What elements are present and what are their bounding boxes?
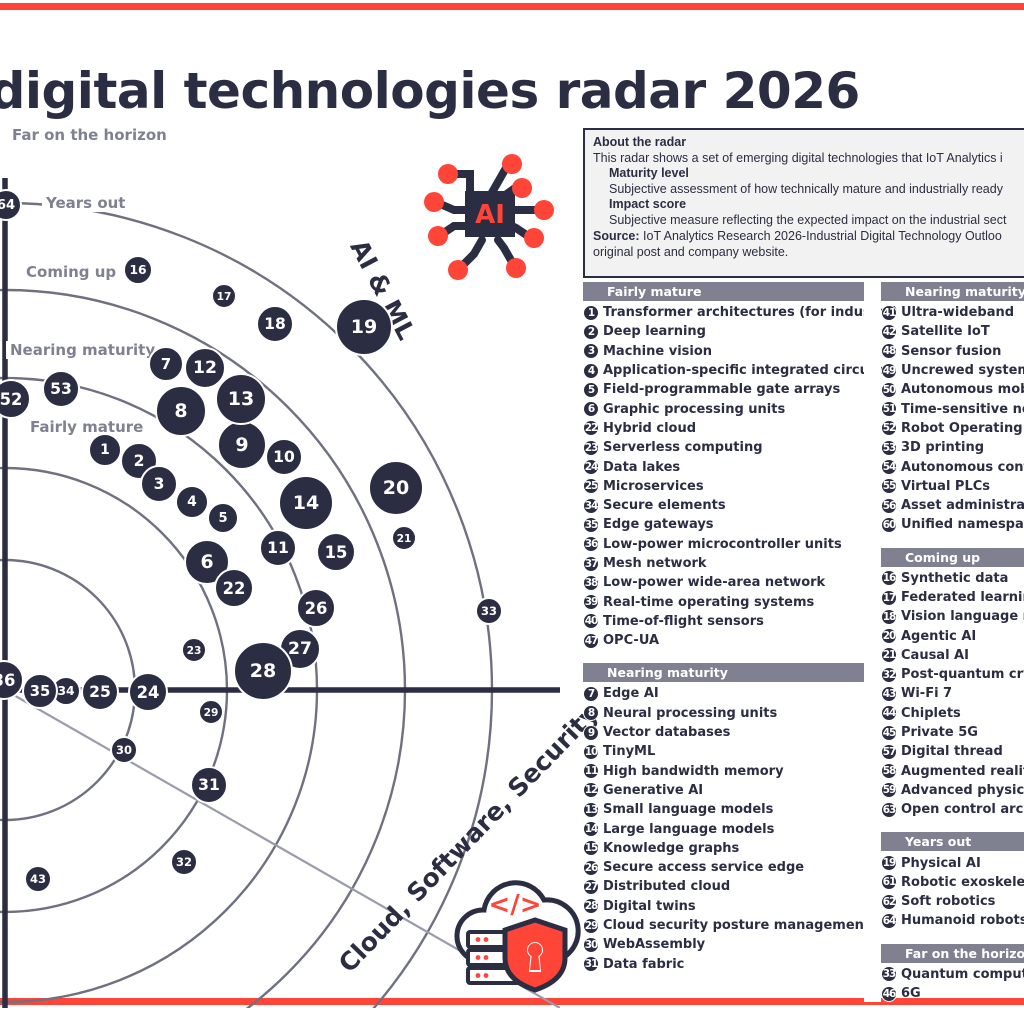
legend-item-label: Low-power microcontroller units — [603, 537, 842, 552]
legend-item-label: Autonomous mobile robots — [901, 382, 1024, 397]
legend-item-label: Federated learning — [901, 590, 1024, 605]
about-source-text2: original post and company website. — [593, 244, 1024, 260]
legend-item-number: 60 — [881, 517, 897, 533]
legend-item-number: 18 — [881, 609, 897, 625]
legend-item-number: 55 — [881, 478, 897, 494]
radar-bubble-33[interactable]: 33 — [475, 597, 503, 625]
legend-item-number: 59 — [881, 782, 897, 798]
legend-item-label: Unified namespace — [901, 517, 1024, 532]
legend-item-label: Robot Operating System — [901, 421, 1024, 436]
legend-group: Years out19Physical AI61Robotic exoskele… — [881, 832, 1024, 930]
legend-item-number: 1 — [583, 305, 599, 321]
legend-item-label: Deep learning — [603, 324, 706, 339]
legend-item[interactable]: 47OPC-UA — [583, 631, 864, 650]
legend-item-number: 8 — [583, 705, 599, 721]
legend-item[interactable]: 15Knowledge graphs — [583, 839, 864, 858]
legend-item-label: Uncrewed systems — [901, 363, 1024, 378]
radar-bubble-31[interactable]: 31 — [190, 766, 228, 804]
legend-item[interactable]: 44Chiplets — [881, 704, 1024, 723]
legend-item-label: 3D printing — [901, 440, 984, 455]
cloud-security-icon: </> — [440, 858, 590, 993]
about-source-text: IoT Analytics Research 2026-Industrial D… — [640, 229, 1002, 243]
legend-item-label: Knowledge graphs — [603, 841, 739, 856]
legend-item[interactable]: 24Data lakes — [583, 457, 864, 476]
legend-item-number: 61 — [881, 874, 897, 890]
legend-item-number: 44 — [881, 705, 897, 721]
legend-item-number: 21 — [881, 647, 897, 663]
radar-bubble-19[interactable]: 19 — [335, 298, 393, 356]
legend-item-number: 12 — [583, 782, 599, 798]
ring-label-fairly-mature: Fairly mature — [26, 418, 147, 436]
legend-item-label: OPC-UA — [603, 633, 659, 648]
legend-item-label: Graphic processing units — [603, 402, 785, 417]
legend-item[interactable]: 5Field-programmable gate arrays — [583, 380, 864, 399]
legend-item-label: Autonomous control — [901, 460, 1024, 475]
legend-item-label: Cloud security posture management — [603, 918, 870, 933]
legend-item-number: 23 — [583, 440, 599, 456]
legend-item-label: Serverless computing — [603, 440, 763, 455]
legend-item[interactable]: 40Time-of-flight sensors — [583, 612, 864, 631]
legend-item-label: Application-specific integrated circuits — [603, 363, 887, 378]
legend-item-label: Post-quantum cryptography — [901, 667, 1024, 682]
legend-category-header: Far on the horizon — [881, 944, 1024, 963]
legend-category-header: Nearing maturity (continued) — [881, 282, 1024, 301]
legend-item-number: 42 — [881, 324, 897, 340]
legend-item-label: Digital thread — [901, 744, 1003, 759]
legend-item-number: 35 — [583, 517, 599, 533]
legend-item[interactable]: 52Robot Operating System — [881, 419, 1024, 438]
legend-item-label: Augmented reality — [901, 764, 1024, 779]
legend-item-number: 54 — [881, 459, 897, 475]
legend-item-number: 27 — [583, 879, 599, 895]
legend-item[interactable]: 61Robotic exoskeletons — [881, 873, 1024, 892]
legend-item-label: Secure elements — [603, 498, 726, 513]
legend-item-label: Satellite IoT — [901, 324, 990, 339]
legend-item[interactable]: 63Open control architecture — [881, 800, 1024, 819]
legend-item-label: Data fabric — [603, 957, 684, 972]
legend-item-number: 58 — [881, 763, 897, 779]
legend-item-number: 14 — [583, 821, 599, 837]
legend-item[interactable]: 57Digital thread — [881, 742, 1024, 761]
legend-item[interactable]: 20Agentic AI — [881, 626, 1024, 645]
legend-group: Nearing maturity (continued)41Ultra-wide… — [881, 282, 1024, 535]
radar-bubble-3[interactable]: 3 — [140, 465, 178, 503]
legend-item[interactable]: 62Soft robotics — [881, 892, 1024, 911]
legend-item-number: 5 — [583, 382, 599, 398]
legend-item-number: 30 — [583, 937, 599, 953]
ring-label-years-out: Years out — [42, 194, 129, 212]
svg-text:</>: </> — [488, 890, 541, 920]
legend-item-label: Edge gateways — [603, 517, 714, 532]
legend-item-label: Machine vision — [603, 344, 712, 359]
legend-item-label: Real-time operating systems — [603, 595, 814, 610]
legend-item[interactable]: 32Post-quantum cryptography — [881, 665, 1024, 684]
legend-item[interactable]: 9Vector databases — [583, 723, 864, 742]
legend-item-number: 36 — [583, 536, 599, 552]
legend-item[interactable]: 25Microservices — [583, 477, 864, 496]
legend-category-header: Nearing maturity — [583, 663, 864, 682]
legend-item[interactable]: 51Time-sensitive networking — [881, 399, 1024, 418]
about-the-radar-panel: About the radar This radar shows a set o… — [583, 128, 1024, 278]
legend-item-label: Advanced physical layer — [901, 783, 1024, 798]
radar-bubble-22[interactable]: 22 — [214, 568, 254, 608]
legend-item-label: High bandwidth memory — [603, 764, 784, 779]
legend-item[interactable]: 28Digital twins — [583, 897, 864, 916]
legend-item[interactable]: 30WebAssembly — [583, 935, 864, 954]
about-impact-text: Subjective measure reflecting the expect… — [609, 212, 1024, 228]
legend-item-number: 38 — [583, 575, 599, 591]
legend-item-label: Asset administration shell — [901, 498, 1024, 513]
legend-item-label: Neural processing units — [603, 706, 777, 721]
legend-item-number: 41 — [881, 305, 897, 321]
legend-item-number: 40 — [583, 613, 599, 629]
legend-column-divider — [864, 282, 881, 1002]
legend-item-number: 26 — [583, 860, 599, 876]
about-heading: About the radar — [593, 135, 1024, 150]
radar-bubble-30[interactable]: 30 — [110, 736, 138, 764]
legend-item[interactable]: 48Sensor fusion — [881, 342, 1024, 361]
about-impact-heading: Impact score — [609, 197, 1024, 212]
legend-item-number: 57 — [881, 744, 897, 760]
legend-item[interactable]: 56Asset administration shell — [881, 496, 1024, 515]
legend-item[interactable]: 13Small language models — [583, 800, 864, 819]
legend-item-number: 6 — [583, 401, 599, 417]
radar-bubble-23[interactable]: 23 — [181, 637, 207, 663]
legend-item-label: Low-power wide-area network — [603, 575, 825, 590]
legend-item-number: 64 — [881, 913, 897, 929]
radar-bubble-28[interactable]: 28 — [233, 641, 293, 701]
legend-item-label: Field-programmable gate arrays — [603, 382, 840, 397]
legend-item-number: 25 — [583, 478, 599, 494]
legend-item-label: Time-sensitive networking — [901, 402, 1024, 417]
radar-bubble-35[interactable]: 35 — [22, 673, 58, 709]
legend-item-number: 31 — [583, 956, 599, 972]
legend-category-header: Coming up — [881, 548, 1024, 567]
legend-panel: Fairly mature1Transformer architectures … — [583, 282, 1024, 1002]
about-source: Source: IoT Analytics Research 2026-Indu… — [593, 228, 1024, 244]
radar-bubble-29[interactable]: 29 — [198, 699, 224, 725]
ai-chip-icon: AI — [420, 148, 560, 288]
legend-item-label: Open control architecture — [901, 802, 1024, 817]
radar-bubble-14[interactable]: 14 — [278, 475, 334, 531]
radar-bubble-15[interactable]: 15 — [316, 532, 356, 572]
legend-item-label: Robotic exoskeletons — [901, 875, 1024, 890]
legend-item[interactable]: 12Generative AI — [583, 781, 864, 800]
legend-item-label: Time-of-flight sensors — [603, 614, 764, 629]
legend-item-number: 9 — [583, 725, 599, 741]
legend-group: Fairly mature1Transformer architectures … — [583, 282, 864, 650]
legend-item-number: 50 — [881, 382, 897, 398]
radar-bubble-32[interactable]: 32 — [170, 848, 198, 876]
legend-item-number: 53 — [881, 440, 897, 456]
radar-bubble-16[interactable]: 16 — [123, 255, 153, 285]
radar-bubble-11[interactable]: 11 — [259, 529, 297, 567]
radar-bubble-7[interactable]: 7 — [148, 346, 184, 382]
radar-bubble-8[interactable]: 8 — [155, 385, 207, 437]
legend-group: Coming up16Synthetic data17Federated lea… — [881, 548, 1024, 820]
legend-item-number: 28 — [583, 898, 599, 914]
about-intro: This radar shows a set of emerging digit… — [593, 150, 1024, 166]
ring-label-coming-up: Coming up — [22, 263, 120, 281]
legend-item-number: 2 — [583, 324, 599, 340]
legend-item[interactable]: 39Real-time operating systems — [583, 592, 864, 611]
legend-item[interactable]: 23Serverless computing — [583, 438, 864, 457]
legend-item[interactable]: 50Autonomous mobile robots — [881, 380, 1024, 399]
legend-item-number: 32 — [881, 667, 897, 683]
legend-item-number: 52 — [881, 420, 897, 436]
legend-item[interactable]: 55Virtual PLCs — [881, 477, 1024, 496]
legend-item-number: 17 — [881, 590, 897, 606]
about-source-label: Source: — [593, 229, 640, 243]
legend-item-number: 48 — [881, 343, 897, 359]
legend-column-right: Nearing maturity (continued)41Ultra-wide… — [881, 282, 1024, 1016]
legend-item[interactable]: 49Uncrewed systems — [881, 361, 1024, 380]
legend-item-label: Virtual PLCs — [901, 479, 990, 494]
legend-item-label: Synthetic data — [901, 571, 1008, 586]
legend-item-label: Microservices — [603, 479, 704, 494]
radar-bubble-4[interactable]: 4 — [175, 485, 209, 519]
legend-item[interactable]: 19Physical AI — [881, 853, 1024, 872]
legend-item[interactable]: 14Large language models — [583, 819, 864, 838]
radar-bubble-13[interactable]: 13 — [215, 373, 267, 425]
legend-item[interactable]: 22Hybrid cloud — [583, 419, 864, 438]
legend-item[interactable]: 466G — [881, 984, 1024, 1003]
radar-bubble-9[interactable]: 9 — [217, 420, 267, 470]
legend-item[interactable]: 41Ultra-wideband — [881, 303, 1024, 322]
legend-item-label: Vector databases — [603, 725, 730, 740]
about-maturity-heading: Maturity level — [609, 166, 1024, 181]
legend-item-label: Wi-Fi 7 — [901, 686, 952, 701]
legend-item-number: 20 — [881, 628, 897, 644]
page-title: rial digital technologies radar 2026 — [0, 62, 882, 120]
legend-group: Nearing maturity7Edge AI8Neural processi… — [583, 663, 864, 973]
legend-item-number: 15 — [583, 840, 599, 856]
legend-item-label: Private 5G — [901, 725, 978, 740]
radar-bubble-5[interactable]: 5 — [207, 502, 239, 534]
legend-item-number: 3 — [583, 343, 599, 359]
legend-item[interactable]: 37Mesh network — [583, 554, 864, 573]
legend-group: Far on the horizon33Quantum computing466… — [881, 944, 1024, 1004]
legend-item[interactable]: 54Autonomous control — [881, 457, 1024, 476]
legend-item-number: 63 — [881, 802, 897, 818]
svg-text:AI: AI — [475, 200, 505, 230]
legend-item-label: Sensor fusion — [901, 344, 1001, 359]
legend-item[interactable]: 31Data fabric — [583, 955, 864, 974]
legend-item-label: Ultra-wideband — [901, 305, 1014, 320]
legend-item-number: 56 — [881, 498, 897, 514]
legend-item-label: 6G — [901, 986, 921, 1001]
legend-item[interactable]: 11High bandwidth memory — [583, 762, 864, 781]
legend-item[interactable]: 27Distributed cloud — [583, 877, 864, 896]
legend-item-number: 37 — [583, 556, 599, 572]
legend-item-label: Data lakes — [603, 460, 680, 475]
legend-item-label: Quantum computing — [901, 967, 1024, 982]
ring-label-nearing-maturity: Nearing maturity — [6, 341, 159, 359]
radar-bubble-25[interactable]: 25 — [81, 673, 119, 711]
legend-item-label: Causal AI — [901, 648, 969, 663]
legend-item[interactable]: 60Unified namespace — [881, 515, 1024, 534]
legend-item[interactable]: 1Transformer architectures (for industry… — [583, 303, 864, 322]
top-accent-bar — [0, 3, 1024, 10]
legend-item[interactable]: 4Application-specific integrated circuit… — [583, 361, 864, 380]
radar-bubble-1[interactable]: 1 — [88, 433, 122, 467]
radar-bubble-26[interactable]: 26 — [296, 588, 336, 628]
legend-item-number: 33 — [881, 966, 897, 982]
legend-item-number: 45 — [881, 725, 897, 741]
legend-item-number: 22 — [583, 420, 599, 436]
legend-item-number: 62 — [881, 894, 897, 910]
legend-item-number: 7 — [583, 686, 599, 702]
legend-item-number: 29 — [583, 918, 599, 934]
radar-bubble-24[interactable]: 24 — [128, 672, 168, 712]
legend-item-number: 49 — [881, 363, 897, 379]
radar-bubble-18[interactable]: 18 — [256, 305, 294, 343]
legend-item-number: 34 — [583, 498, 599, 514]
legend-item-label: Distributed cloud — [603, 879, 730, 894]
legend-item-label: Vision language models — [901, 609, 1024, 624]
about-maturity-text: Subjective assessment of how technically… — [609, 181, 1024, 197]
legend-item[interactable]: 8Neural processing units — [583, 704, 864, 723]
legend-item-number: 19 — [881, 855, 897, 871]
legend-item[interactable]: 3Machine vision — [583, 342, 864, 361]
legend-item-number: 47 — [583, 633, 599, 649]
legend-item[interactable]: 21Causal AI — [881, 646, 1024, 665]
legend-item[interactable]: 45Private 5G — [881, 723, 1024, 742]
legend-item[interactable]: 43Wi-Fi 7 — [881, 684, 1024, 703]
radar-bubble-17[interactable]: 17 — [211, 283, 237, 309]
legend-item[interactable]: 26Secure access service edge — [583, 858, 864, 877]
legend-item[interactable]: 35Edge gateways — [583, 515, 864, 534]
legend-item-label: Soft robotics — [901, 894, 995, 909]
legend-category-header: Years out — [881, 832, 1024, 851]
legend-item-label: Agentic AI — [901, 629, 976, 644]
legend-item-label: Mesh network — [603, 556, 707, 571]
legend-item-number: 11 — [583, 763, 599, 779]
legend-item-number: 24 — [583, 459, 599, 475]
legend-item[interactable]: 2Deep learning — [583, 322, 864, 341]
legend-item-label: Hybrid cloud — [603, 421, 696, 436]
legend-item[interactable]: 38Low-power wide-area network — [583, 573, 864, 592]
legend-item-label: Edge AI — [603, 686, 659, 701]
legend-item-label: TinyML — [603, 744, 655, 759]
legend-item-number: 46 — [881, 986, 897, 1002]
radar-bubble-20[interactable]: 20 — [368, 460, 424, 516]
legend-item-label: Large language models — [603, 822, 774, 837]
legend-item-number: 10 — [583, 744, 599, 760]
legend-item-label: Generative AI — [603, 783, 703, 798]
legend-item-label: Humanoid robots — [901, 913, 1024, 928]
legend-item[interactable]: 34Secure elements — [583, 496, 864, 515]
legend-item-label: Small language models — [603, 802, 773, 817]
legend-item[interactable]: 29Cloud security posture management — [583, 916, 864, 935]
legend-item-number: 51 — [881, 401, 897, 417]
legend-item[interactable]: 33Quantum computing — [881, 965, 1024, 984]
legend-item-label: WebAssembly — [603, 937, 705, 952]
legend-item[interactable]: 7Edge AI — [583, 684, 864, 703]
legend-item[interactable]: 16Synthetic data — [881, 569, 1024, 588]
legend-item[interactable]: 64Humanoid robots — [881, 911, 1024, 930]
legend-column-left: Fairly mature1Transformer architectures … — [583, 282, 864, 987]
radar-bubble-10[interactable]: 10 — [265, 438, 303, 476]
legend-item-number: 43 — [881, 686, 897, 702]
radar-bubble-53[interactable]: 53 — [42, 370, 80, 408]
legend-category-header: Fairly mature — [583, 282, 864, 301]
legend-item-label: Physical AI — [901, 856, 981, 871]
legend-item-label: Transformer architectures (for industry) — [603, 305, 898, 320]
radar-bubble-43[interactable]: 43 — [24, 865, 52, 893]
legend-item-number: 4 — [583, 363, 599, 379]
legend-item[interactable]: 36Low-power microcontroller units — [583, 535, 864, 554]
legend-item[interactable]: 59Advanced physical layer — [881, 781, 1024, 800]
legend-item[interactable]: 533D printing — [881, 438, 1024, 457]
legend-item[interactable]: 18Vision language models — [881, 607, 1024, 626]
legend-item-number: 39 — [583, 594, 599, 610]
legend-item[interactable]: 17Federated learning — [881, 588, 1024, 607]
legend-item-number: 16 — [881, 570, 897, 586]
legend-item[interactable]: 42Satellite IoT — [881, 322, 1024, 341]
legend-item[interactable]: 10TinyML — [583, 742, 864, 761]
ring-label-far-on-the-horizon: Far on the horizon — [8, 126, 171, 144]
legend-item[interactable]: 6Graphic processing units — [583, 399, 864, 418]
legend-item-label: Chiplets — [901, 706, 961, 721]
legend-item-number: 13 — [583, 802, 599, 818]
legend-item-label: Digital twins — [603, 899, 696, 914]
radar-bubble-21[interactable]: 21 — [391, 525, 417, 551]
legend-item-label: Secure access service edge — [603, 860, 804, 875]
legend-item[interactable]: 58Augmented reality — [881, 762, 1024, 781]
